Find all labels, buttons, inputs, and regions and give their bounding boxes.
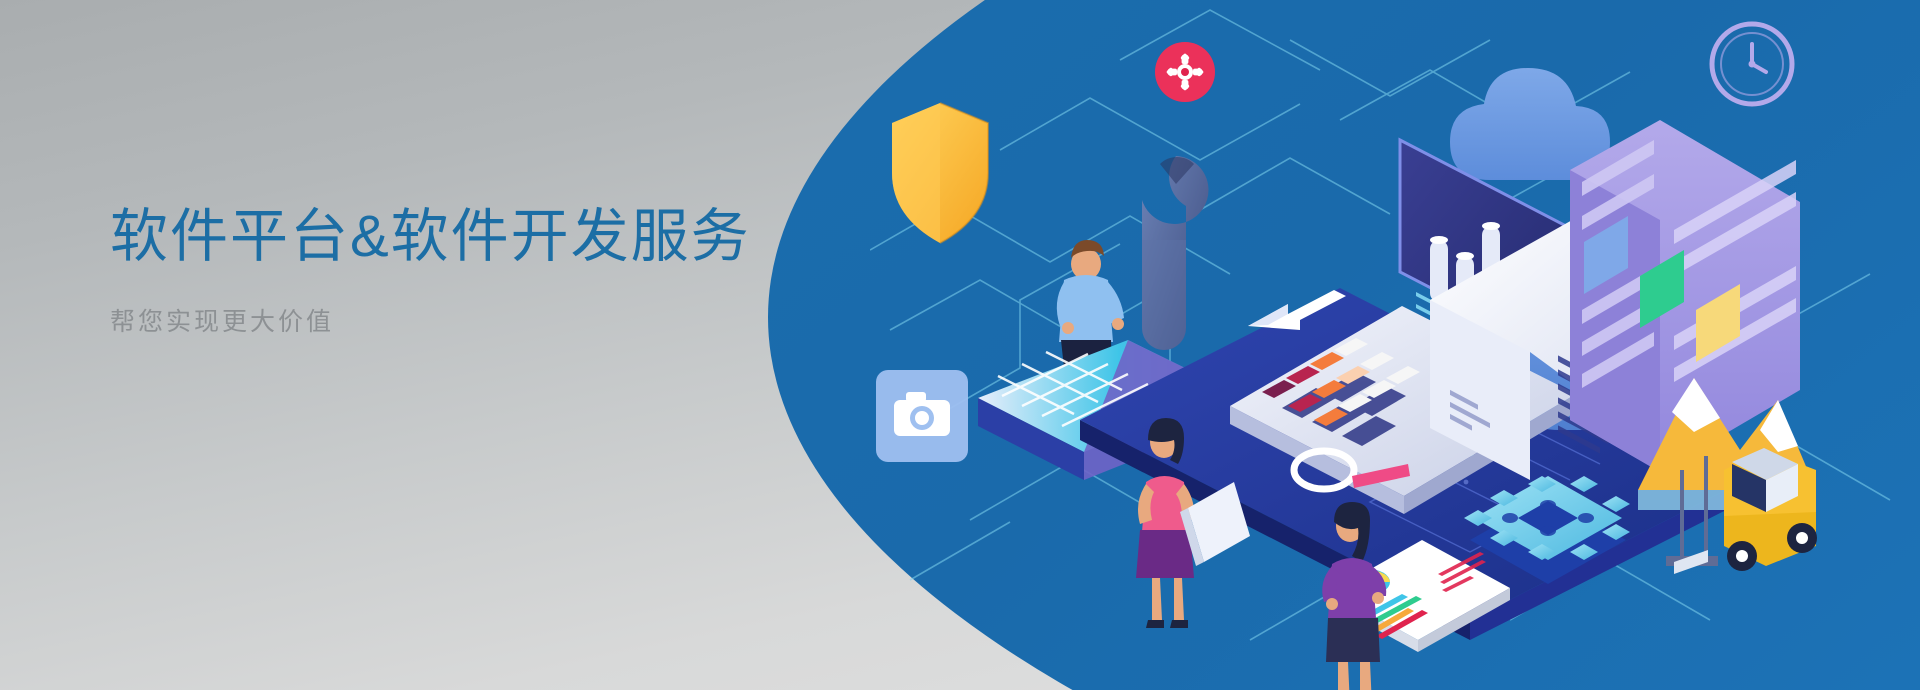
hero-banner: 软件平台&软件开发服务 帮您实现更大价值 bbox=[0, 0, 1920, 690]
background bbox=[0, 0, 1920, 690]
page-subtitle: 帮您实现更大价值 bbox=[110, 306, 870, 339]
page-title: 软件平台&软件开发服务 bbox=[110, 205, 870, 270]
banner-copy: 软件平台&软件开发服务 帮您实现更大价值 bbox=[110, 205, 870, 338]
